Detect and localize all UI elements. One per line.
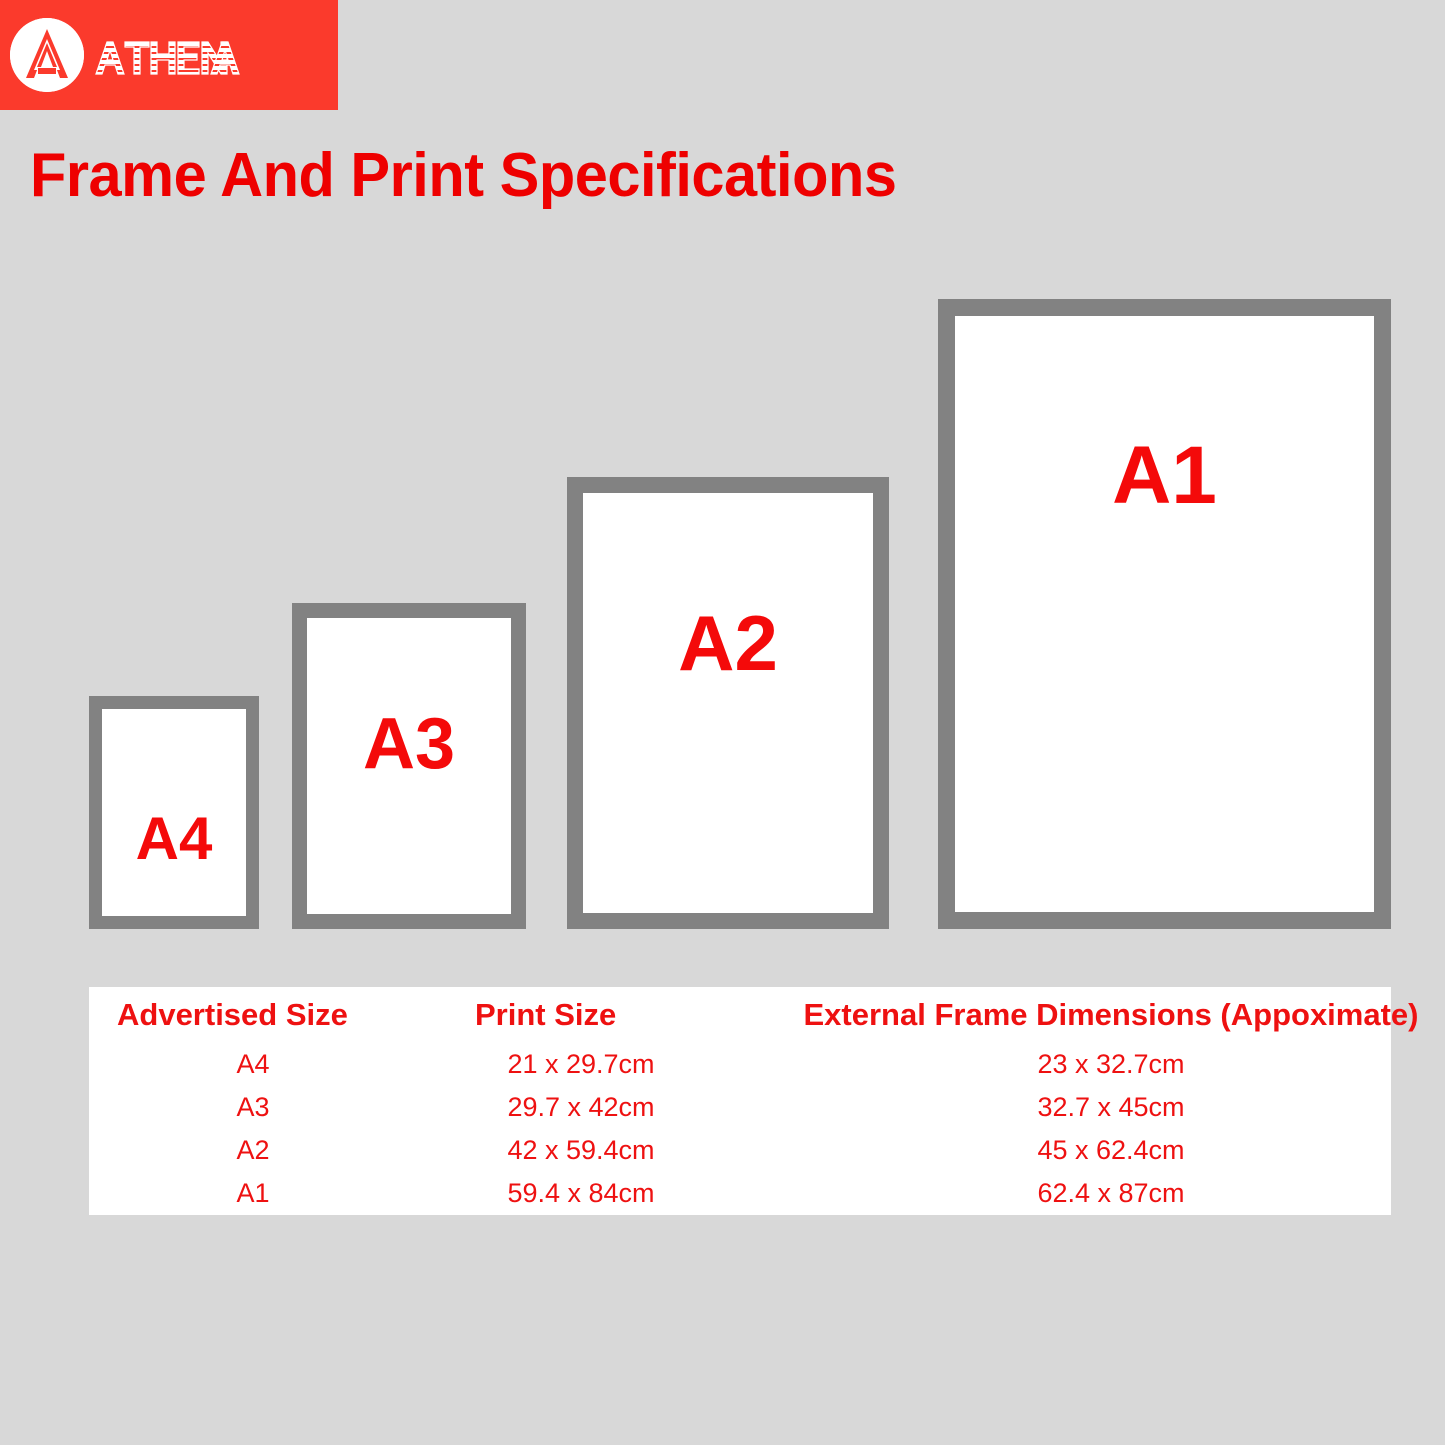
brand-wordmark [93, 36, 243, 80]
cell-print-size: 21 x 29.7cm [417, 1043, 745, 1086]
frame-label-a2: A2 [678, 604, 778, 682]
table-row: A1 59.4 x 84cm 62.4 x 87cm [89, 1172, 1445, 1215]
table-row: A4 21 x 29.7cm 23 x 32.7cm [89, 1043, 1445, 1086]
athena-a-monogram-icon [10, 18, 84, 92]
frame-label-a4: A4 [136, 809, 213, 869]
frame-preview-a2: A2 [567, 477, 889, 929]
spec-table-head: Advertised Size Print Size External Fram… [89, 987, 1445, 1043]
cell-print-size: 42 x 59.4cm [417, 1129, 745, 1172]
frame-preview-a3: A3 [292, 603, 526, 929]
table-row: A3 29.7 x 42cm 32.7 x 45cm [89, 1086, 1445, 1129]
frame-label-a3: A3 [363, 708, 455, 780]
cell-print-size: 59.4 x 84cm [417, 1172, 745, 1215]
frame-label-a1: A1 [1112, 435, 1217, 517]
frame-preview-a4: A4 [89, 696, 259, 929]
cell-external-frame: 62.4 x 87cm [745, 1172, 1445, 1215]
table-header-row: Advertised Size Print Size External Fram… [89, 987, 1445, 1043]
page-title: Frame And Print Specifications [30, 141, 896, 211]
cell-external-frame: 32.7 x 45cm [745, 1086, 1445, 1129]
cell-advertised-size: A3 [89, 1086, 417, 1129]
cell-advertised-size: A1 [89, 1172, 417, 1215]
brand-banner [0, 0, 338, 110]
frame-preview-a1: A1 [938, 299, 1391, 929]
table-row: A2 42 x 59.4cm 45 x 62.4cm [89, 1129, 1445, 1172]
specifications-table: Advertised Size Print Size External Fram… [89, 987, 1391, 1215]
column-header-advertised-size: Advertised Size [89, 987, 417, 1043]
cell-external-frame: 23 x 32.7cm [745, 1043, 1445, 1086]
cell-advertised-size: A2 [89, 1129, 417, 1172]
column-header-print-size: Print Size [417, 987, 745, 1043]
spec-table-body: A4 21 x 29.7cm 23 x 32.7cm A3 29.7 x 42c… [89, 1043, 1445, 1215]
cell-print-size: 29.7 x 42cm [417, 1086, 745, 1129]
column-header-external-frame: External Frame Dimensions (Appoximate) [745, 987, 1445, 1043]
spec-table-element: Advertised Size Print Size External Fram… [89, 987, 1445, 1215]
cell-advertised-size: A4 [89, 1043, 417, 1086]
cell-external-frame: 45 x 62.4cm [745, 1129, 1445, 1172]
